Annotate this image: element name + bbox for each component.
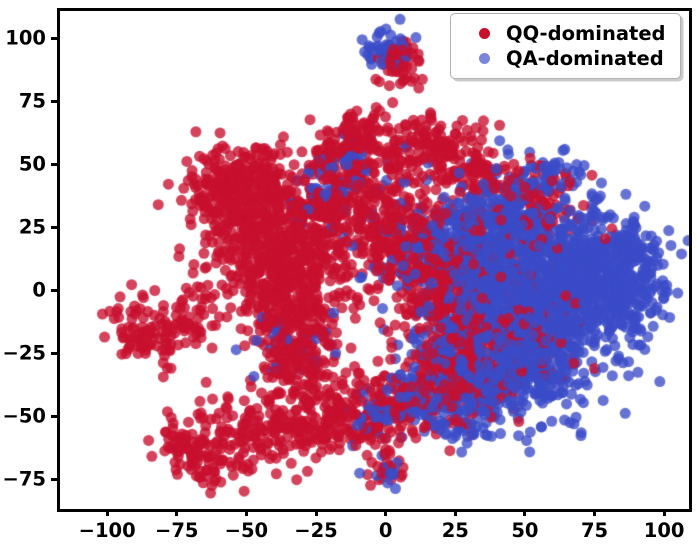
legend-label: QA-dominated — [506, 49, 664, 69]
y-tick-mark — [51, 478, 58, 481]
x-tick-label: −25 — [294, 521, 337, 541]
scatter-figure: −100−75−50−250255075100 1007550250−25−50… — [0, 0, 697, 560]
x-tick-mark — [454, 509, 457, 516]
y-tick-mark — [51, 352, 58, 355]
legend-swatch-cell — [462, 28, 506, 39]
x-tick-mark — [315, 509, 318, 516]
y-tick-mark — [51, 289, 58, 292]
x-tick-label: 0 — [379, 521, 393, 541]
y-tick-label: 50 — [19, 154, 46, 174]
y-tick-label: 25 — [19, 217, 46, 237]
y-tick-label: 0 — [32, 280, 46, 300]
x-tick-label: −75 — [155, 521, 198, 541]
x-tick-label: 25 — [442, 521, 469, 541]
y-tick-label: 100 — [5, 28, 46, 48]
y-tick-mark — [51, 37, 58, 40]
y-tick-label: −25 — [3, 343, 46, 363]
x-tick-mark — [523, 509, 526, 516]
x-tick-mark — [245, 509, 248, 516]
x-tick-mark — [384, 509, 387, 516]
circle-marker-icon — [479, 53, 490, 64]
x-tick-label: −50 — [225, 521, 268, 541]
x-tick-label: 50 — [511, 521, 538, 541]
scatter-plot-canvas — [0, 0, 697, 560]
x-tick-label: 100 — [644, 521, 685, 541]
legend-swatch-cell — [462, 53, 506, 64]
y-tick-mark — [51, 415, 58, 418]
legend-item-qq-dominated[interactable]: QQ-dominated — [462, 21, 666, 46]
x-tick-mark — [593, 509, 596, 516]
legend-label: QQ-dominated — [506, 24, 666, 44]
legend-item-qa-dominated[interactable]: QA-dominated — [462, 46, 666, 71]
y-tick-mark — [51, 100, 58, 103]
x-tick-label: 75 — [581, 521, 608, 541]
y-tick-mark — [51, 226, 58, 229]
x-tick-label: −100 — [79, 521, 136, 541]
y-tick-label: 75 — [19, 91, 46, 111]
y-tick-label: −75 — [3, 469, 46, 489]
x-tick-mark — [663, 509, 666, 516]
chart-legend[interactable]: QQ-dominated QA-dominated — [450, 13, 681, 79]
x-tick-mark — [106, 509, 109, 516]
x-tick-mark — [175, 509, 178, 516]
circle-marker-icon — [479, 28, 490, 39]
y-tick-mark — [51, 163, 58, 166]
y-tick-label: −50 — [3, 406, 46, 426]
